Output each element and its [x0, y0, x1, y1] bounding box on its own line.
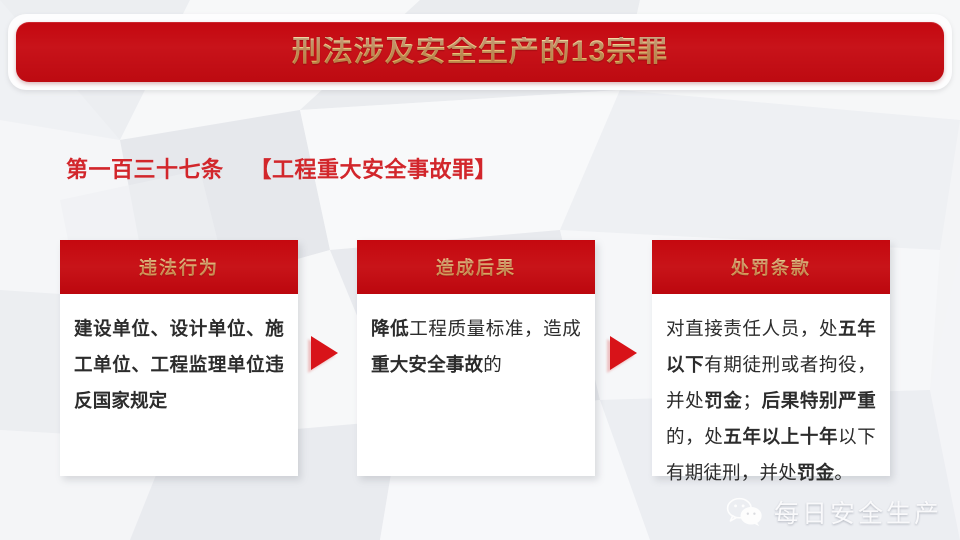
- watermark: 每日安全生产: [726, 494, 942, 530]
- emphasis-text: 罚金: [797, 462, 834, 483]
- emphasis-text: 罚金: [704, 390, 742, 411]
- wechat-icon: [726, 496, 764, 528]
- watermark-text: 每日安全生产: [774, 494, 942, 530]
- page-title: 刑法涉及安全生产的13宗罪: [292, 37, 668, 67]
- arrow-right-icon: [610, 336, 637, 370]
- body-text: 。: [834, 462, 853, 483]
- body-text: 的: [483, 354, 502, 375]
- title-banner: 刑法涉及安全生产的13宗罪: [16, 22, 944, 82]
- body-text: 的，处: [666, 426, 723, 447]
- article-number: 第一百三十七条: [66, 157, 224, 182]
- card-header-label: 造成后果: [436, 254, 516, 280]
- card-illegal-act: 违法行为 建设单位、设计单位、施工单位、工程监理单位违反国家规定: [60, 240, 298, 476]
- body-text: 工程质量标准，造成: [409, 318, 581, 339]
- card-header-illegal-act: 违法行为: [60, 240, 298, 294]
- body-text: 对直接责任人员，处: [666, 318, 838, 339]
- arrow-right-icon: [311, 336, 338, 370]
- card-body-illegal-act: 建设单位、设计单位、施工单位、工程监理单位违反国家规定: [60, 294, 298, 429]
- emphasis-text: 降低: [371, 318, 409, 339]
- slide-root: 刑法涉及安全生产的13宗罪 第一百三十七条【工程重大安全事故罪】 违法行为 建设…: [0, 0, 960, 540]
- emphasis-text: 重大安全事故: [371, 354, 483, 375]
- card-body-penalty: 对直接责任人员，处五年以下有期徒刑或者拘役，并处罚金；后果特别严重的，处五年以上…: [652, 294, 890, 501]
- card-consequence: 造成后果 降低工程质量标准，造成重大安全事故的: [357, 240, 595, 476]
- card-penalty: 处罚条款 对直接责任人员，处五年以下有期徒刑或者拘役，并处罚金；后果特别严重的，…: [652, 240, 890, 476]
- card-header-consequence: 造成后果: [357, 240, 595, 294]
- card-header-label: 处罚条款: [731, 254, 811, 280]
- card-header-penalty: 处罚条款: [652, 240, 890, 294]
- emphasis-text: 五年以上十年: [723, 426, 838, 447]
- body-text: ；: [743, 390, 762, 411]
- card-body-consequence: 降低工程质量标准，造成重大安全事故的: [357, 294, 595, 393]
- crime-name: 【工程重大安全事故罪】: [250, 157, 498, 182]
- emphasis-text: 后果特别严重: [761, 390, 876, 411]
- card-header-label: 违法行为: [139, 254, 219, 280]
- emphasis-text: 建设单位、设计单位、施工单位、工程监理单位违反国家规定: [74, 318, 284, 411]
- article-subtitle: 第一百三十七条【工程重大安全事故罪】: [66, 152, 497, 184]
